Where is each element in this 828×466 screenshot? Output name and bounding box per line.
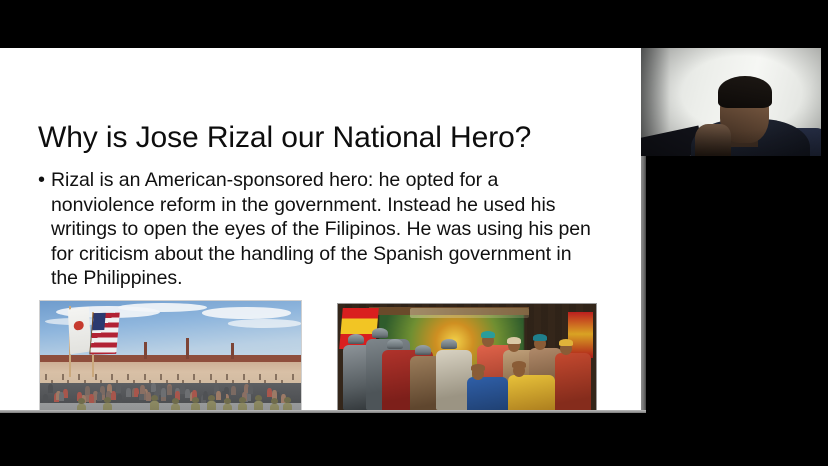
page-title: Why is Jose Rizal our National Hero? <box>38 121 531 155</box>
bullet-marker-icon: • <box>38 168 51 193</box>
slide-bottom-edge <box>0 410 646 413</box>
bullet-item-text: Rizal is an American-sponsored hero: he … <box>51 168 598 291</box>
military-parade-photo <box>40 301 301 412</box>
white-flag <box>68 306 91 354</box>
blood-compact-painting <box>338 304 596 412</box>
participant-video-tile[interactable] <box>641 48 821 156</box>
shared-slide[interactable]: Why is Jose Rizal our National Hero? • R… <box>0 48 641 412</box>
american-flag-icon <box>90 313 120 354</box>
presentation-stage: Why is Jose Rizal our National Hero? • R… <box>0 0 828 466</box>
bullet-list: • Rizal is an American-sponsored hero: h… <box>38 168 598 291</box>
